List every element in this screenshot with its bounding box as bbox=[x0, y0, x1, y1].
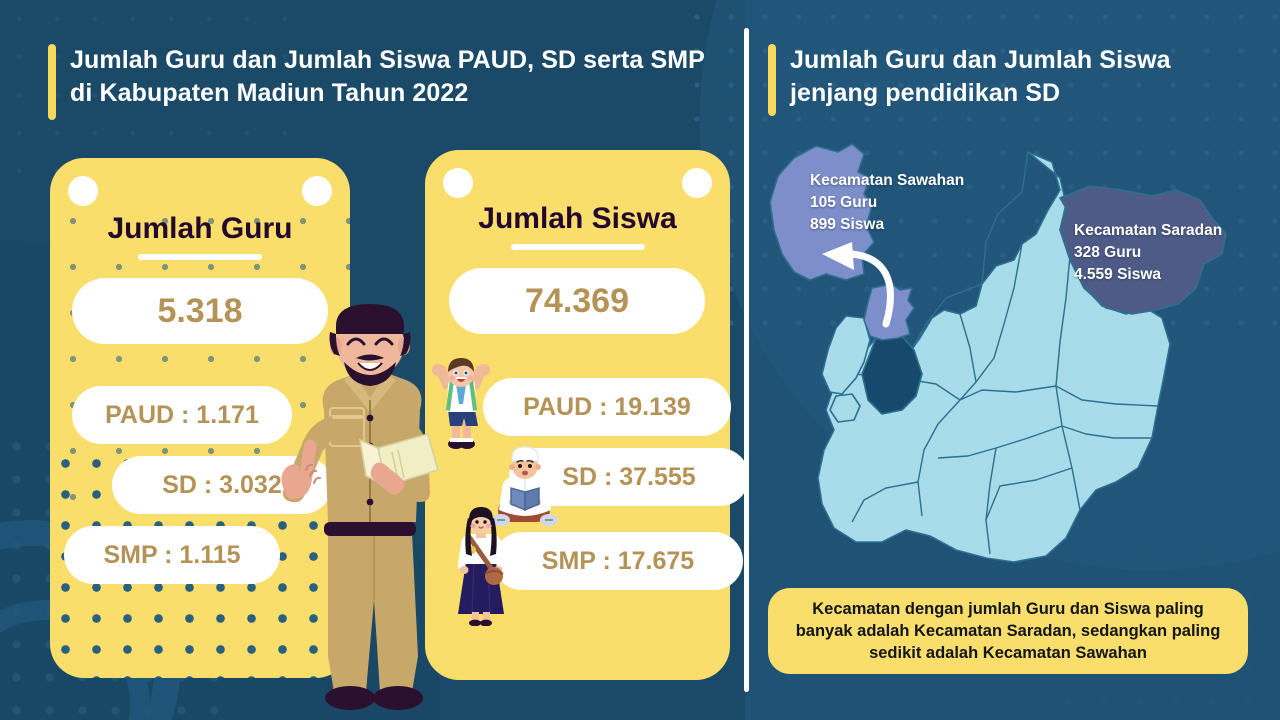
summary-note-text: Kecamatan dengan jumlah Guru dan Siswa p… bbox=[782, 598, 1234, 664]
panel-divider bbox=[744, 28, 749, 692]
left-panel-title: Jumlah Guru dan Jumlah Siswa PAUD, SD se… bbox=[48, 44, 708, 120]
left-panel-title-text: Jumlah Guru dan Jumlah Siswa PAUD, SD se… bbox=[70, 44, 708, 109]
map-label-sawahan: Kecamatan Sawahan 105 Guru 899 Siswa bbox=[810, 170, 964, 236]
title-accent-bar bbox=[768, 44, 776, 116]
card-siswa-heading: Jumlah Siswa bbox=[425, 202, 730, 236]
map-label-sawahan-name: Kecamatan Sawahan bbox=[810, 170, 964, 192]
summary-note-box: Kecamatan dengan jumlah Guru dan Siswa p… bbox=[768, 588, 1248, 674]
right-panel-title: Jumlah Guru dan Jumlah Siswa jenjang pen… bbox=[768, 44, 1238, 116]
infographic-canvas: Jumlah Guru dan Jumlah Siswa PAUD, SD se… bbox=[0, 0, 1280, 720]
title-accent-bar bbox=[48, 44, 56, 120]
student-paud-illustration bbox=[428, 356, 494, 452]
right-panel-title-text: Jumlah Guru dan Jumlah Siswa jenjang pen… bbox=[790, 44, 1238, 109]
card-siswa-total-value: 74.369 bbox=[449, 268, 705, 334]
card-guru-underline bbox=[138, 254, 262, 260]
map-label-saradan-guru: 328 Guru bbox=[1074, 242, 1222, 264]
card-siswa-smp-value: SMP : 17.675 bbox=[493, 532, 743, 590]
card-guru-heading: Jumlah Guru bbox=[50, 212, 350, 246]
card-punch-hole-left bbox=[68, 176, 98, 206]
card-guru-smp-value: SMP : 1.115 bbox=[64, 526, 280, 584]
map-label-sawahan-siswa: 899 Siswa bbox=[810, 214, 964, 236]
card-siswa-paud-value: PAUD : 19.139 bbox=[483, 378, 731, 436]
map-region-west-small-2 bbox=[830, 394, 860, 422]
card-punch-hole-right bbox=[302, 176, 332, 206]
card-punch-hole-left bbox=[443, 168, 473, 198]
card-siswa-underline bbox=[511, 244, 645, 250]
card-guru-paud-value: PAUD : 1.171 bbox=[72, 386, 292, 444]
map-label-saradan: Kecamatan Saradan 328 Guru 4.559 Siswa bbox=[1074, 220, 1222, 286]
map-label-saradan-siswa: 4.559 Siswa bbox=[1074, 264, 1222, 286]
card-punch-hole-right bbox=[682, 168, 712, 198]
student-smp-illustration bbox=[450, 506, 512, 626]
map-label-saradan-name: Kecamatan Saradan bbox=[1074, 220, 1222, 242]
map-label-sawahan-guru: 105 Guru bbox=[810, 192, 964, 214]
